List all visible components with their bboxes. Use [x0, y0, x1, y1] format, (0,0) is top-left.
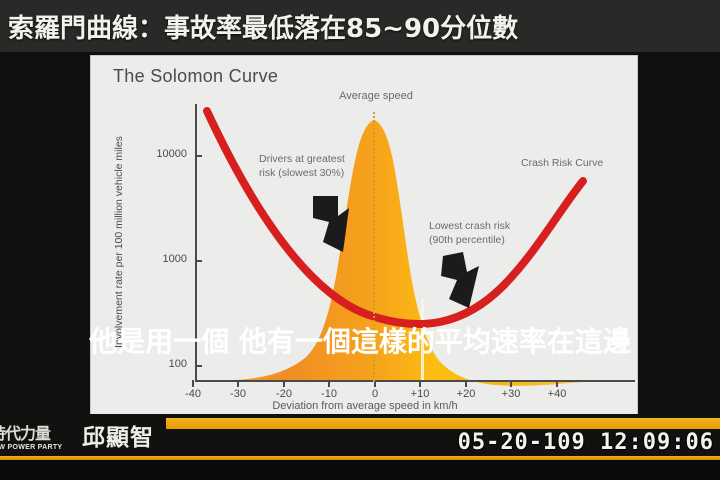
subtitle-text: 他是用一個 他有一個這樣的平均速率在這邊 [89, 325, 631, 358]
x-label--30: -30 [218, 388, 258, 400]
annotation-lowest-line1: Lowest crash risk [429, 219, 559, 233]
average-speed-label: Average speed [296, 90, 456, 102]
speaker-name: 邱顯智 [82, 418, 154, 452]
plot-area: 10000 1000 100 Involvement rate per 100 … [91, 56, 638, 415]
x-label--40: -40 [173, 388, 213, 400]
x-label-+10: +10 [400, 388, 440, 400]
x-label-0: 0 [355, 388, 395, 400]
arrow-lowest-risk [441, 252, 479, 308]
y-label-1000: 1000 [131, 253, 187, 265]
lower-third-bar: 時代力量 NEW POWER PARTY 邱顯智 05-20-109 12:09… [0, 414, 720, 456]
x-label--10: -10 [309, 388, 349, 400]
x-tick--20 [283, 380, 285, 387]
annotation-lowest-line2: (90th percentile) [429, 233, 559, 247]
footer-bar [0, 460, 720, 480]
annotation-slowest-drivers: Drivers at greatest risk (slowest 30%) [259, 152, 389, 180]
headline-bar: 索羅門曲線：事故率最低落在85~90分位數 [0, 0, 720, 52]
arrow-slowest-risk [313, 196, 349, 252]
annotation-slowest-line1: Drivers at greatest [259, 152, 389, 166]
party-logo-english: NEW POWER PARTY [0, 444, 62, 451]
party-logo: 時代力量 NEW POWER PARTY [0, 414, 76, 456]
video-frame: 索羅門曲線：事故率最低落在85~90分位數 The Solomon Curve [0, 0, 720, 480]
headline-text: 索羅門曲線：事故率最低落在85~90分位數 [0, 8, 518, 45]
x-axis-line [195, 380, 635, 382]
x-tick-+30 [510, 380, 512, 387]
timestamp: 05-20-109 12:09:06 [458, 430, 714, 455]
y-tick-10000 [195, 155, 202, 157]
annotation-crash-risk-curve: Crash Risk Curve [521, 156, 638, 170]
x-label-+30: +30 [491, 388, 531, 400]
annotation-lowest-risk: Lowest crash risk (90th percentile) [429, 219, 559, 247]
annotation-slowest-line2: risk (slowest 30%) [259, 166, 389, 180]
x-tick-+20 [465, 380, 467, 387]
party-logo-chinese: 時代力量 [0, 420, 50, 444]
y-label-10000: 10000 [131, 148, 187, 160]
y-tick-100 [195, 365, 202, 367]
chart-panel: The Solomon Curve [90, 55, 638, 415]
x-tick--40 [192, 380, 194, 387]
subtitle-overlay: 他是用一個 他有一個這樣的平均速率在這邊 [0, 320, 720, 360]
gold-accent-bar: 05-20-109 12:09:06 [166, 414, 720, 456]
x-axis-title: Deviation from average speed in km/h [91, 400, 638, 412]
x-label--20: -20 [264, 388, 304, 400]
x-tick--30 [237, 380, 239, 387]
x-tick--10 [328, 380, 330, 387]
x-label-+40: +40 [537, 388, 577, 400]
x-tick-+10 [419, 380, 421, 387]
y-tick-1000 [195, 260, 202, 262]
x-tick-+40 [556, 380, 558, 387]
x-label-+20: +20 [446, 388, 486, 400]
